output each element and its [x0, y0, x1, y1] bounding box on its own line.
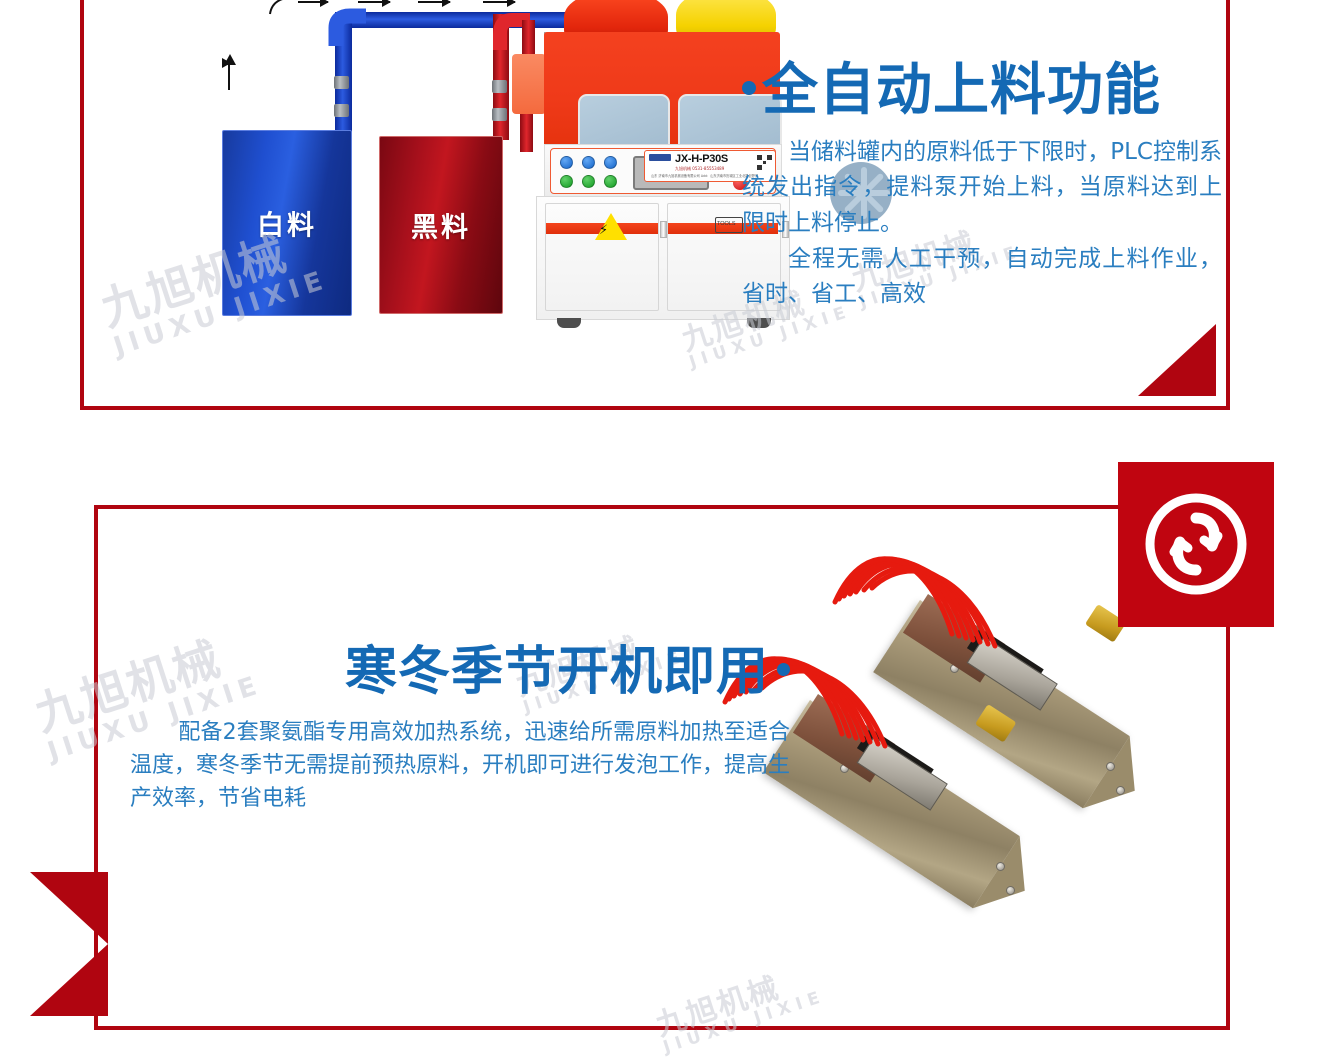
- tools-label: TOOLS: [717, 221, 736, 227]
- section-1-body: 当储料罐内的原料低于下限时，PLC控制系统发出指令，提料泵开始上料，当原料达到上…: [742, 135, 1222, 313]
- flow-arrow-3: [418, 1, 450, 3]
- auto-feeding-illustration: 白料 黑料: [168, 0, 818, 384]
- vertical-arrow-head: [223, 54, 237, 66]
- nameplate-subline: 九旭机械 0531-85553489: [675, 166, 724, 172]
- machine-foot-right: [747, 318, 771, 328]
- flow-arrow-1: [298, 1, 328, 3]
- black-material-label: 黑料: [380, 206, 502, 245]
- section-2-heading-text: 寒冬季节开机即用: [345, 642, 769, 702]
- green-button-1[interactable]: [560, 175, 573, 188]
- bullet-dot-icon: [742, 81, 756, 95]
- lightning-bolt-icon: ⚡: [599, 223, 608, 236]
- nameplate-model: JX-H-P30S: [675, 153, 728, 165]
- blue-button-3[interactable]: [604, 156, 617, 169]
- green-button-3[interactable]: [604, 175, 617, 188]
- corner-triangle-bottom-right: [1138, 324, 1216, 396]
- door-handle-left[interactable]: [660, 221, 667, 238]
- section-1-paragraph-2: 全程无需人工干预，自动完成上料作业，省时、省工、高效: [742, 242, 1222, 313]
- section-1-heading: 全自动上料功能: [742, 62, 1222, 121]
- curved-flow-arrow: [268, 0, 302, 16]
- blue-button-1[interactable]: [560, 156, 573, 169]
- section-2-text-block: 寒冬季节开机即用 配备2套聚氨酯专用高效加热系统，迅速给所需原料加热至适合温度，…: [130, 645, 790, 815]
- white-material-label: 白料: [223, 204, 351, 243]
- blue-button-2[interactable]: [582, 156, 595, 169]
- bullet-dot-icon: [777, 663, 790, 676]
- vertical-flow-arrow: [228, 62, 230, 90]
- section-1-text-block: 全自动上料功能 当储料罐内的原料低于下限时，PLC控制系统发出指令，提料泵开始上…: [742, 62, 1222, 313]
- pipe-coupler-2: [334, 104, 349, 117]
- blue-pipe-elbow: [328, 8, 368, 48]
- section-1-heading-text: 全自动上料功能: [762, 58, 1161, 123]
- brand-badge: [1118, 462, 1274, 627]
- black-material-drum: 黑料: [379, 136, 503, 314]
- watermark: 九旭机械 JIUXU JIXIE: [649, 950, 828, 1057]
- product-detail-page: 白料 黑料: [0, 0, 1317, 1038]
- nameplate-brand-logo: [649, 154, 671, 161]
- machine-foot-left: [557, 318, 581, 328]
- white-material-drum: 白料: [222, 130, 352, 316]
- pipe-coupler-1: [334, 76, 349, 89]
- section-2-heading: 寒冬季节开机即用: [130, 645, 790, 700]
- tools-icon: TOOLS: [715, 209, 741, 231]
- green-button-2[interactable]: [582, 175, 595, 188]
- section-2-paragraph-1: 配备2套聚氨酯专用高效加热系统，迅速给所需原料加热至适合温度，寒冬季节无需提前预…: [130, 716, 790, 815]
- flow-arrow-4: [483, 1, 515, 3]
- section-1-paragraph-1: 当储料罐内的原料低于下限时，PLC控制系统发出指令，提料泵开始上料，当原料达到上…: [742, 135, 1222, 242]
- flow-arrow-2: [358, 1, 390, 3]
- rotation-arrows-circle-icon: [1140, 488, 1252, 600]
- corner-triangle-bottom-left: [30, 872, 108, 1016]
- section-2-body: 配备2套聚氨酯专用高效加热系统，迅速给所需原料加热至适合温度，寒冬季节无需提前预…: [130, 716, 790, 815]
